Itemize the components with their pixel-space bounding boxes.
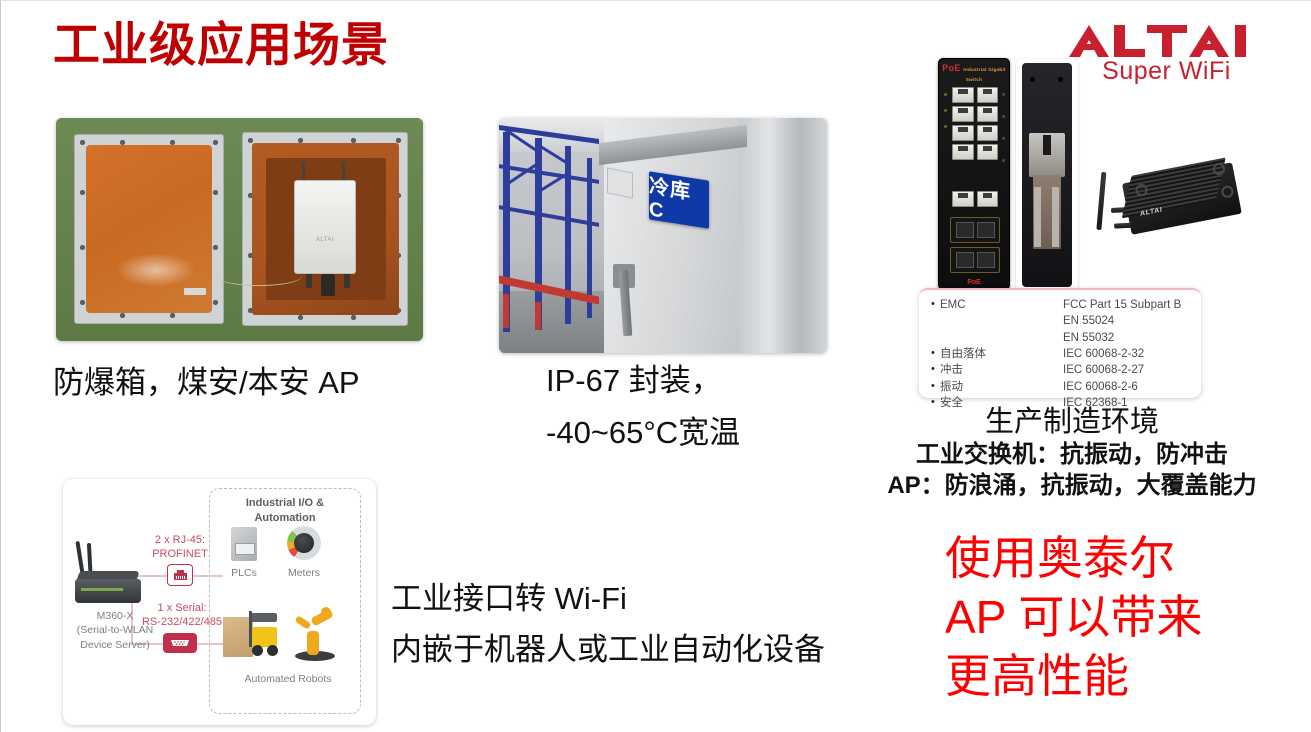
rj45-port (952, 106, 974, 122)
logo-tagline: Super WiFi (1059, 57, 1274, 86)
device-sub1: (Serial-to-WLAN (65, 623, 165, 637)
page-title: 工业级应用场景 (53, 19, 389, 71)
spec-label: 冲击 (940, 362, 963, 378)
rj45-connector-icon (167, 564, 193, 586)
sfp-slot-group (950, 247, 1000, 273)
cold-storage-sign: 冷库 C (649, 171, 709, 229)
red-callout-line1: 使用奥泰尔 (945, 529, 1202, 588)
robots-label: Automated Robots (215, 673, 361, 685)
manufacturing-line2: AP：防浪涌，抗振动，大覆盖能力 (846, 470, 1298, 501)
altai-ap-unit: ALTAI (294, 180, 356, 274)
device-label: M360-X (Serial-to-WLAN Device Server) (65, 609, 165, 652)
conn1-line2: PROFINET (145, 547, 215, 561)
spec-row: •振动 IEC 60068-2-6 (931, 379, 1191, 395)
caption-industrial-interface: 工业接口转 Wi-Fi 内嵌于机器人或工业自动化设备 (391, 579, 825, 671)
sfp-slot (977, 222, 995, 238)
red-callout-line2: AP 可以带来 (945, 588, 1202, 647)
spec-row: •冲击 IEC 60068-2-27 (931, 362, 1191, 378)
caption-explosion-proof-box: 防爆箱，煤安/本安 AP (53, 363, 360, 403)
manufacturing-heading: 生产制造环境 (846, 405, 1298, 439)
red-callout-message: 使用奥泰尔 AP 可以带来 更高性能 (945, 529, 1202, 706)
photo-explosion-proof-box: ALTAI (56, 118, 423, 341)
switch-uplink-grid (952, 191, 998, 207)
slide-canvas: 工业级应用场景 Super WiFi (0, 0, 1311, 732)
device-sub2: Device Server) (65, 638, 165, 652)
switch-sublabel: Industrial Gigabit Switch (963, 67, 1005, 82)
industrial-access-point: ALTAI (1091, 142, 1259, 267)
spec-row: •EMC FCC Part 15 Subpart B (931, 297, 1191, 313)
plc-icon (231, 527, 257, 561)
conn1-line1: 2 x RJ-45: (145, 533, 215, 547)
spec-value: IEC 60068-2-27 (1063, 362, 1191, 378)
industrial-poe-switch: PoE Industrial Gigabit Switch PoE (938, 58, 1010, 290)
spec-label: EMC (940, 297, 966, 313)
altai-wordmark-icon (1067, 21, 1267, 59)
switch-port-grid (952, 87, 998, 160)
industrial-io-title: Industrial I/O & Automation (209, 496, 361, 526)
altai-logo: Super WiFi (1059, 21, 1274, 86)
rj45-port (952, 125, 974, 141)
forklift-icon (223, 607, 283, 659)
rj45-port (977, 125, 999, 141)
red-callout-line3: 更高性能 (945, 647, 1202, 706)
diagram-serial-to-wlan: Industrial I/O & Automation 2 x RJ-45: P… (63, 479, 376, 725)
rj45-icon (173, 569, 188, 581)
rj45-port (977, 144, 999, 160)
spec-value: IEC 60068-2-32 (1063, 346, 1191, 362)
sfp-slot (977, 252, 995, 268)
spec-value: IEC 60068-2-6 (1063, 379, 1191, 395)
spec-table: •EMC FCC Part 15 Subpart B EN 55024 EN 5… (919, 288, 1201, 398)
sfp-slot (956, 252, 974, 268)
photo-cold-storage: 冷库 C (499, 118, 827, 353)
rj45-port (952, 87, 974, 103)
caption-cold-line2: -40~65°C宽温 (546, 413, 740, 453)
db9-icon (169, 638, 191, 648)
caption-cold-storage: IP-67 封装， -40~65°C宽温 (546, 361, 740, 452)
sfp-slot (956, 222, 974, 238)
caption-manufacturing: 生产制造环境 工业交换机：抗振动，防冲击 AP：防浪涌，抗振动，大覆盖能力 (846, 405, 1298, 502)
din-rail-mount-bracket (1016, 59, 1078, 291)
caption-cold-line1: IP-67 封装， (546, 361, 740, 401)
sfp-slot-group (950, 217, 1000, 243)
meters-label: Meters (275, 567, 333, 579)
spec-value-cont: EN 55024 (931, 313, 1191, 329)
switch-poe-label-bottom: PoE (939, 279, 1009, 286)
serial-db9-connector-icon (163, 633, 197, 653)
io-title-line1: Industrial I/O & (209, 496, 361, 511)
robot-arm-icon (291, 605, 339, 661)
ap-brand-mark: ALTAI (295, 237, 355, 243)
industrial-caption-line2: 内嵌于机器人或工业自动化设备 (391, 630, 825, 671)
spec-value: FCC Part 15 Subpart B (1063, 297, 1191, 313)
industrial-caption-line1: 工业接口转 Wi-Fi (391, 579, 825, 620)
rj45-port (952, 191, 974, 207)
spec-value-cont: EN 55032 (931, 330, 1191, 346)
spec-label: 自由落体 (940, 346, 986, 362)
rj45-port (977, 106, 999, 122)
device-name: M360-X (65, 609, 165, 623)
rj45-port (977, 191, 999, 207)
io-title-line2: Automation (209, 511, 361, 526)
meter-gauge-icon (287, 526, 321, 560)
spec-label: 振动 (940, 379, 963, 395)
switch-poe-label: PoE Industrial Gigabit Switch (939, 63, 1009, 83)
conn1-label: 2 x RJ-45: PROFINET (145, 533, 215, 562)
manufacturing-line1: 工业交换机：抗振动，防冲击 (846, 439, 1298, 470)
spec-row: •自由落体 IEC 60068-2-32 (931, 346, 1191, 362)
rj45-port (952, 144, 974, 160)
plc-label: PLCs (215, 567, 273, 579)
rj45-port (977, 87, 999, 103)
